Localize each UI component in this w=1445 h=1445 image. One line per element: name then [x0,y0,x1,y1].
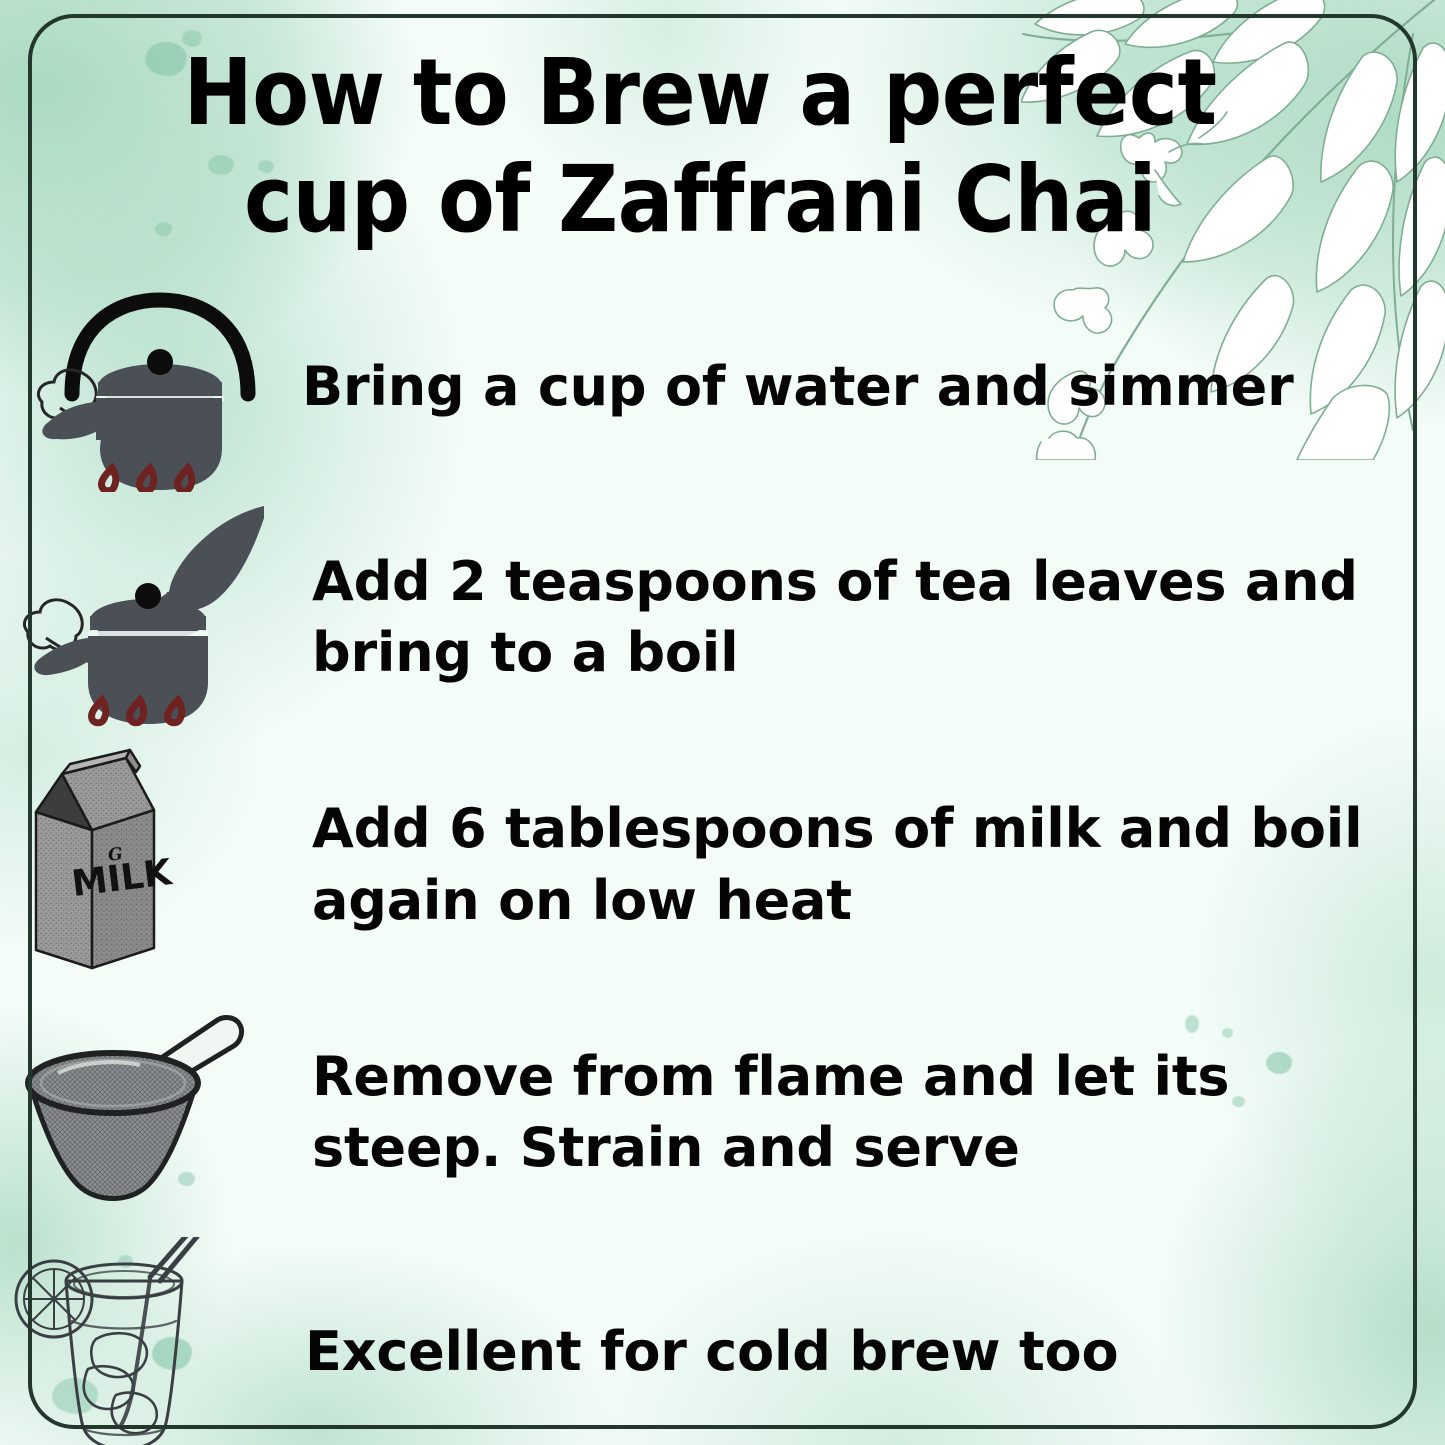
steps-list: Bring a cup of water and simmer [0,282,1445,1445]
recipe-poster: How to Brew a perfect cup of Zaffrani Ch… [0,0,1445,1445]
step-5-text: Excellent for cold brew too [290,1316,1158,1387]
step-1-text: Bring a cup of water and simmer [290,351,1334,422]
step-3-text: Add 6 tablespoons of milk and boil again… [290,793,1445,936]
step-2-icon [0,492,290,742]
step-3-icon: MILK G [0,742,290,987]
step-4-text: Remove from flame and let its steep. Str… [290,1041,1445,1184]
step-4-icon [0,987,290,1237]
list-item: Remove from flame and let its steep. Str… [0,987,1445,1237]
step-1-icon [0,282,290,492]
kettle-with-spoon-icon [0,492,290,742]
tea-strainer-icon [0,987,290,1237]
milk-carton-icon: MILK G [0,742,290,987]
step-2-text: Add 2 teaspoons of tea leaves and bring … [290,546,1445,689]
kettle-on-flame-icon [0,282,290,492]
list-item: Excellent for cold brew too [0,1237,1445,1445]
list-item: Bring a cup of water and simmer [0,282,1445,492]
step-5-icon [0,1237,290,1445]
list-item: Add 2 teaspoons of tea leaves and bring … [0,492,1445,742]
list-item: MILK G Add 6 tablespoons of milk and boi… [0,742,1445,987]
title-line-2: cup of Zaffrani Chai [170,147,1230,254]
svg-text:G: G [107,844,124,866]
title-line-1: How to Brew a perfect [170,40,1230,147]
page-title: How to Brew a perfect cup of Zaffrani Ch… [170,40,1230,253]
iced-drink-glass-icon [0,1237,290,1445]
